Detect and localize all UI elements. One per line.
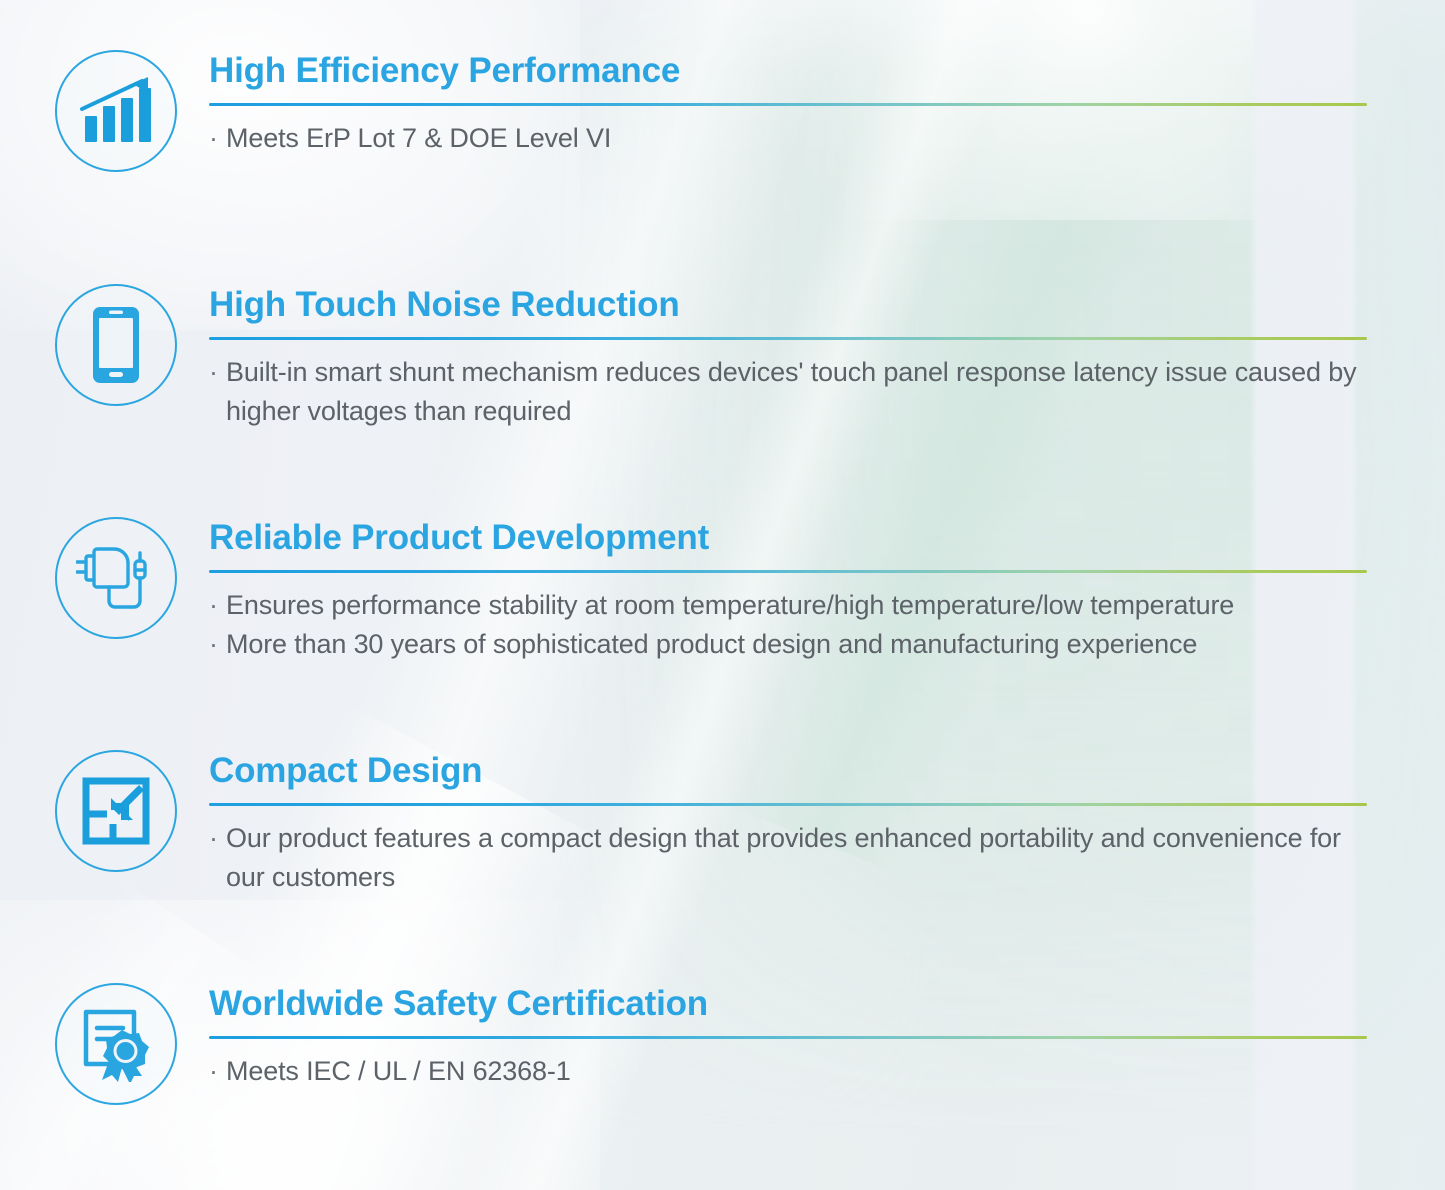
bullet-text: Ensures performance stability at room te… (226, 586, 1369, 625)
bullet-marker: · (209, 819, 226, 897)
bullet-marker: · (209, 353, 226, 431)
feature-body: High Touch Noise Reduction · Built-in sm… (209, 284, 1369, 431)
feature-bullet: · Our product features a compact design … (209, 819, 1369, 897)
feature-bullet: · Ensures performance stability at room … (209, 586, 1369, 625)
compact-resize-icon (55, 750, 177, 872)
feature-highlights-page: High Efficiency Performance · Meets ErP … (0, 0, 1445, 1190)
feature-divider (209, 803, 1367, 806)
feature-title: Worldwide Safety Certification (209, 983, 1369, 1025)
feature-body: Worldwide Safety Certification · Meets I… (209, 983, 1369, 1091)
feature-bullets: · Ensures performance stability at room … (209, 586, 1369, 664)
feature-title: High Efficiency Performance (209, 50, 1369, 92)
feature-bullets: · Meets IEC / UL / EN 62368-1 (209, 1052, 1369, 1091)
feature-bullet: · More than 30 years of sophisticated pr… (209, 625, 1369, 664)
feature-body: Compact Design · Our product features a … (209, 750, 1369, 897)
feature-bullets: · Built-in smart shunt mechanism reduces… (209, 353, 1369, 431)
bullet-marker: · (209, 1052, 226, 1091)
smartphone-icon (55, 284, 177, 406)
feature-divider (209, 337, 1367, 340)
feature-list: High Efficiency Performance · Meets ErP … (0, 0, 1445, 1190)
bullet-text: More than 30 years of sophisticated prod… (226, 625, 1369, 664)
feature-title: Compact Design (209, 750, 1369, 792)
feature-title: Reliable Product Development (209, 517, 1369, 559)
bullet-text: Meets IEC / UL / EN 62368-1 (226, 1052, 1369, 1091)
feature-bullet: · Meets ErP Lot 7 & DOE Level VI (209, 119, 1369, 158)
bullet-text: Meets ErP Lot 7 & DOE Level VI (226, 119, 1369, 158)
bullet-marker: · (209, 625, 226, 664)
bullet-marker: · (209, 586, 226, 625)
bullet-marker: · (209, 119, 226, 158)
feature-bullets: · Our product features a compact design … (209, 819, 1369, 897)
feature-divider (209, 103, 1367, 106)
feature-bullets: · Meets ErP Lot 7 & DOE Level VI (209, 119, 1369, 158)
feature-divider (209, 570, 1367, 573)
feature-title: High Touch Noise Reduction (209, 284, 1369, 326)
feature-divider (209, 1036, 1367, 1039)
feature-body: High Efficiency Performance · Meets ErP … (209, 50, 1369, 158)
feature-bullet: · Meets IEC / UL / EN 62368-1 (209, 1052, 1369, 1091)
certificate-award-icon (55, 983, 177, 1105)
bullet-text: Built-in smart shunt mechanism reduces d… (226, 353, 1369, 431)
power-adapter-icon (55, 517, 177, 639)
bar-chart-growth-icon (55, 50, 177, 172)
feature-body: Reliable Product Development · Ensures p… (209, 517, 1369, 664)
bullet-text: Our product features a compact design th… (226, 819, 1369, 897)
feature-bullet: · Built-in smart shunt mechanism reduces… (209, 353, 1369, 431)
